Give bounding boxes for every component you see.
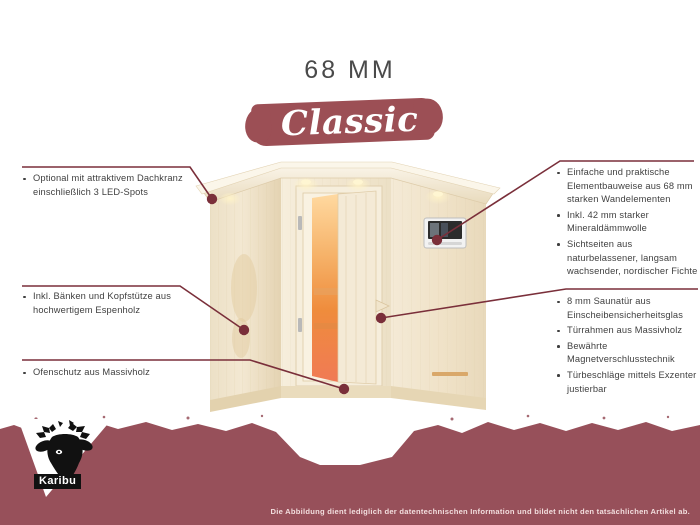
vent-slot <box>432 372 468 376</box>
infographic-page: 68 MM Classic <box>0 0 700 525</box>
callout-bench-list: Inkl. Bänken und Kopfstütze aus hochwert… <box>22 290 192 317</box>
callout-door: 8 mm Saunatür aus Einscheibensicherheits… <box>556 295 700 398</box>
page-title: 68 MM <box>0 58 700 83</box>
sauna-control-panel[interactable] <box>424 218 466 248</box>
callout-roof-item-0: Optional mit attraktivem Dachkranz einsc… <box>22 172 192 199</box>
karibu-logo: Karibu <box>16 415 120 507</box>
sauna-right-wall <box>391 176 486 404</box>
door-hinge-top <box>298 216 302 230</box>
callout-oven-list: Ofenschutz aus Massivholz <box>22 366 192 380</box>
logo-wordmark: Karibu <box>34 474 81 489</box>
callout-door-item-2: Bewährte Magnetverschlusstechnik <box>556 340 700 367</box>
callout-roof: Optional mit attraktivem Dachkranz einsc… <box>22 172 192 201</box>
sauna-illustration <box>186 160 516 430</box>
disclaimer-text: Die Abbildung dient lediglich der datent… <box>260 507 690 516</box>
callout-door-item-1: Türrahmen aus Massivholz <box>556 324 700 338</box>
callout-bench-item-0: Inkl. Bänken und Kopfstütze aus hochwert… <box>22 290 192 317</box>
sauna-left-wall <box>210 176 281 406</box>
callout-roof-list: Optional mit attraktivem Dachkranz einsc… <box>22 172 192 199</box>
callout-walls-item-2: Sichtseiten aus naturbelassener, langsam… <box>556 238 698 279</box>
door-hinge-bottom <box>298 318 302 332</box>
sauna-door[interactable] <box>296 186 389 386</box>
callout-door-list: 8 mm Saunatür aus Einscheibensicherheits… <box>556 295 700 396</box>
title-block: 68 MM Classic <box>0 58 700 145</box>
callout-door-item-0: 8 mm Saunatür aus Einscheibensicherheits… <box>556 295 700 322</box>
product-sauna-image <box>186 160 516 430</box>
callout-walls: Einfache und praktische Elementbauweise … <box>556 166 698 281</box>
callout-walls-item-0: Einfache und praktische Elementbauweise … <box>556 166 698 207</box>
callout-door-item-3: Türbeschläge mittels Exzenter justierbar <box>556 369 700 396</box>
callout-oven-item-0: Ofenschutz aus Massivholz <box>22 366 192 380</box>
brand-banner: Classic <box>267 99 432 145</box>
deer-logo-icon <box>16 415 120 507</box>
callout-walls-list: Einfache und praktische Elementbauweise … <box>556 166 698 279</box>
banner-brushstroke-shape <box>251 97 435 146</box>
banner-label: Classic <box>267 96 434 148</box>
callout-oven: Ofenschutz aus Massivholz <box>22 366 192 382</box>
callout-walls-item-1: Inkl. 42 mm starker Mineraldämmwolle <box>556 209 698 236</box>
callout-bench: Inkl. Bänken und Kopfstütze aus hochwert… <box>22 290 192 319</box>
